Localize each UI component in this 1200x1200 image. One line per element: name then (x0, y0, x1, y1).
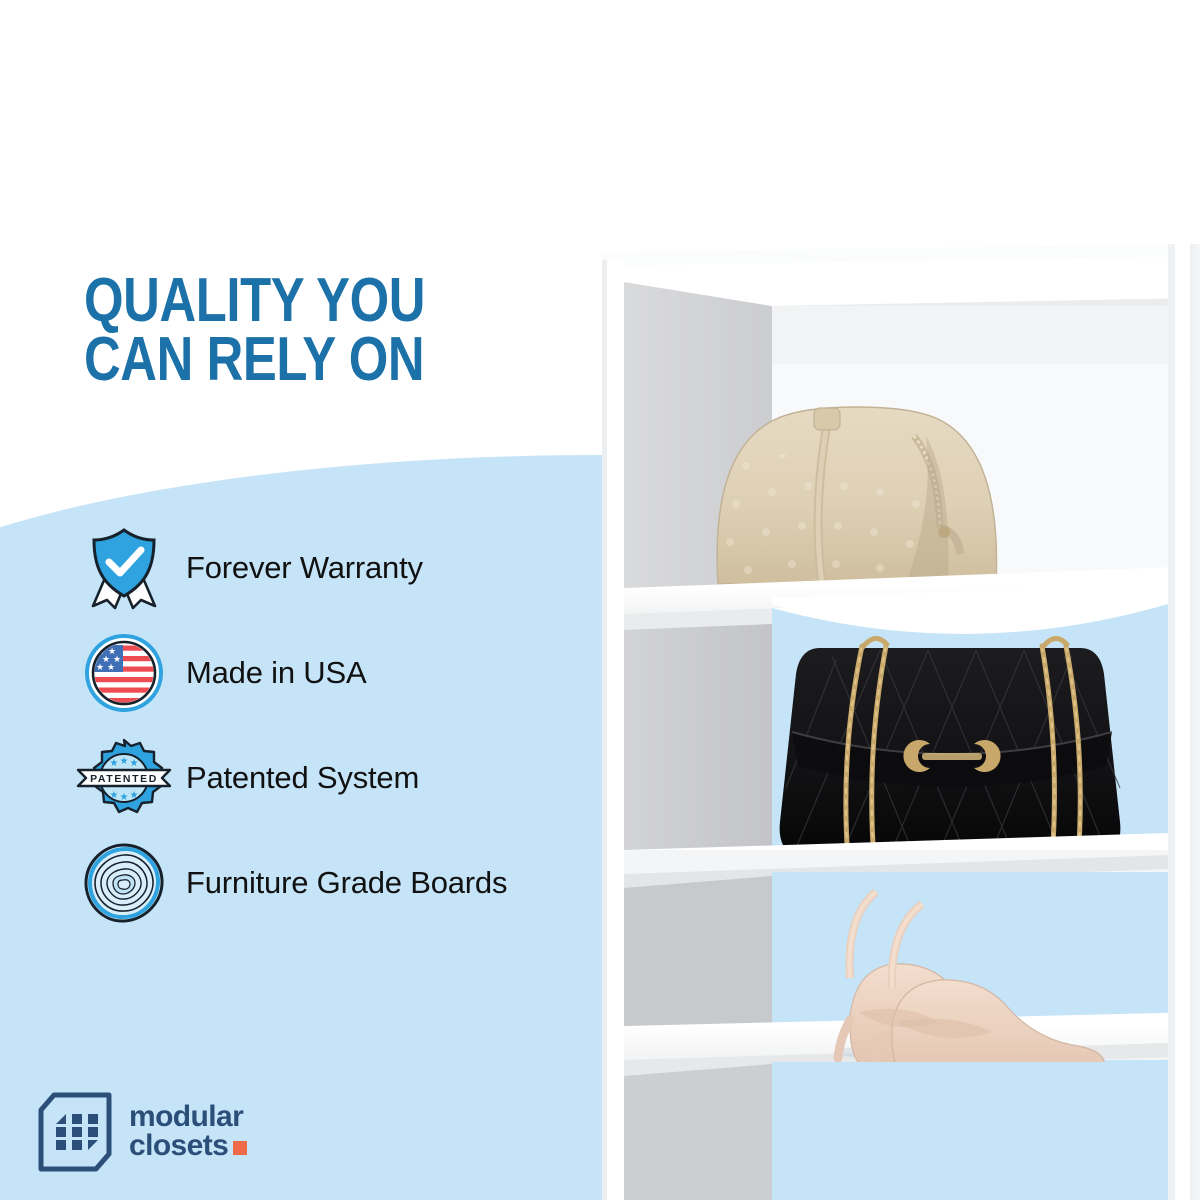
feature-label: Forever Warranty (186, 550, 423, 586)
brand-name-line-2-wrap: closets (129, 1131, 247, 1160)
brand-name-line-2: closets (129, 1129, 228, 1162)
usa-flag-circle-icon: ★★ ★★ ★★ (72, 633, 176, 713)
feature-item-forever-warranty: Forever Warranty (72, 515, 692, 620)
svg-text:★: ★ (120, 792, 129, 803)
feature-item-patented-system: ★★★ ★★★ PATENTED Patented System (72, 725, 692, 830)
brand-name-line-1: modular (129, 1102, 247, 1131)
patented-ribbon-badge-icon: ★★★ ★★★ PATENTED (72, 737, 176, 819)
headline-line-2: CAN RELY ON (84, 325, 424, 394)
patented-badge-text: PATENTED (90, 773, 158, 785)
feature-item-made-in-usa: ★★ ★★ ★★ Made in USA (72, 620, 692, 725)
beige-crossbody-bag (714, 407, 997, 598)
feature-item-furniture-grade-boards: Furniture Grade Boards (72, 830, 692, 935)
promo-banner: QUALITY YOUCAN RELY ON Forever Warranty (0, 0, 1200, 1200)
shield-check-badge-icon (72, 526, 176, 610)
svg-text:★: ★ (130, 790, 139, 801)
feature-label: Furniture Grade Boards (186, 865, 507, 901)
svg-text:★: ★ (96, 662, 104, 672)
feature-label: Made in USA (186, 655, 366, 691)
brand-logo[interactable]: modular closets (38, 1092, 247, 1172)
brand-logo-text: modular closets (129, 1102, 247, 1163)
brand-logo-dot (233, 1141, 247, 1155)
closet-grid-logo-icon (38, 1092, 112, 1172)
svg-text:★: ★ (110, 758, 119, 769)
svg-text:★: ★ (120, 756, 129, 767)
feature-list: Forever Warranty (72, 515, 692, 935)
svg-text:★: ★ (130, 758, 139, 769)
svg-text:★: ★ (107, 662, 115, 672)
page-title: QUALITY YOUCAN RELY ON (84, 272, 425, 390)
wood-grain-rings-icon (72, 842, 176, 924)
svg-text:★: ★ (110, 790, 119, 801)
feature-label: Patented System (186, 760, 419, 796)
